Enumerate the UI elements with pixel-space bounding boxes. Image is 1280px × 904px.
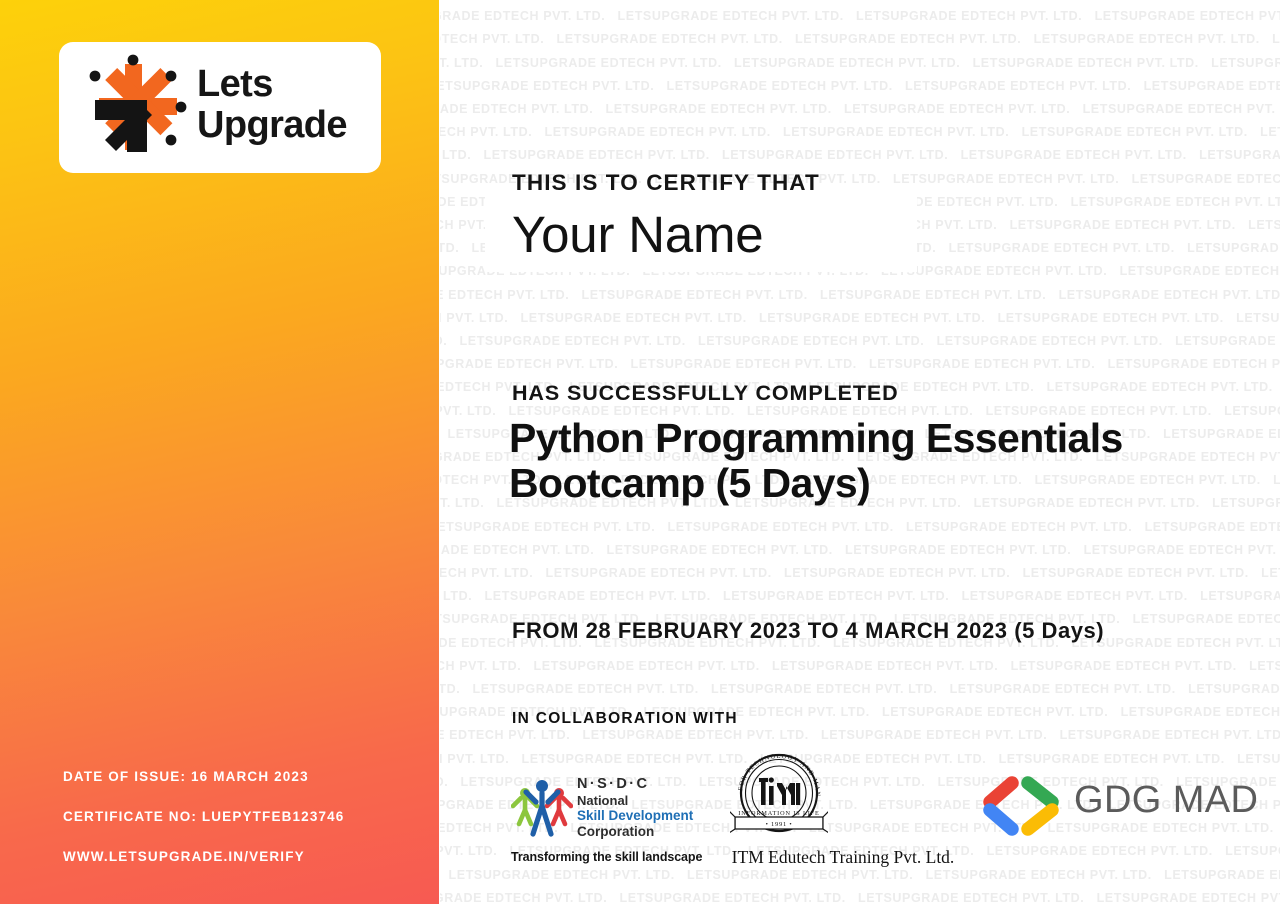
verify-url[interactable]: WWW.LETSUPGRADE.IN/VERIFY — [63, 849, 423, 864]
nsdc-wordmark: N·S·D·C National Skill Development Corpo… — [577, 776, 705, 839]
nsdc-tagline: Transforming the skill landscape — [511, 850, 703, 864]
partner-logos: N·S·D·C National Skill Development Corpo… — [439, 742, 1280, 882]
certificate-meta-block: DATE OF ISSUE: 16 MARCH 2023 CERTIFICATE… — [63, 769, 423, 864]
certificate-sidebar: Lets Upgrade DATE OF ISSUE: 16 MARCH 202… — [0, 0, 439, 904]
letsupgrade-wordmark: Lets Upgrade — [197, 64, 347, 146]
itm-logo: INSTITUTE FOR TECHNOLOGY AND MANAGEMENT — [717, 745, 967, 875]
nsdc-line-3: Corporation — [577, 824, 705, 840]
itm-seal-icon: INSTITUTE FOR TECHNOLOGY AND MANAGEMENT — [730, 745, 828, 845]
svg-text:INFORMATION IS LIFE: INFORMATION IS LIFE — [738, 810, 819, 817]
certificate-number: CERTIFICATE NO: LUEPYTFEB123746 — [63, 809, 423, 824]
svg-text:• 1991 •: • 1991 • — [766, 821, 793, 828]
gdg-chevron-icon — [976, 775, 1068, 837]
nsdc-line-2: Skill Development — [577, 808, 705, 824]
certificate-body: THIS IS TO CERTIFY THAT Your Name HAS SU… — [439, 0, 1280, 904]
logo-word-line2: Upgrade — [197, 105, 347, 146]
itm-company-name: ITM Edutech Training Pvt. Ltd. — [715, 847, 971, 868]
recipient-name: Your Name — [512, 205, 932, 264]
nsdc-logo: N·S·D·C National Skill Development Corpo… — [511, 774, 701, 878]
gdg-logo: GDG MAD — [976, 775, 1251, 837]
letsupgrade-logo-icon — [81, 54, 187, 160]
svg-text:INSTITUTE FOR TECHNOLOGY AND M: INSTITUTE FOR TECHNOLOGY AND MANAGEMENT — [730, 745, 821, 797]
nsdc-logo-top: N·S·D·C National Skill Development Corpo… — [511, 774, 701, 846]
gdg-wordmark: GDG MAD — [1074, 779, 1258, 822]
certify-label: THIS IS TO CERTIFY THAT — [512, 170, 820, 196]
nsdc-figures-icon — [511, 776, 573, 838]
course-date-range: FROM 28 FEBRUARY 2023 TO 4 MARCH 2023 (5… — [512, 618, 1212, 644]
nsdc-line-1: National — [577, 793, 705, 808]
completed-label: HAS SUCCESSFULLY COMPLETED — [512, 381, 899, 406]
nsdc-abbreviation: N·S·D·C — [577, 776, 705, 793]
letsupgrade-logo-card: Lets Upgrade — [59, 42, 381, 173]
logo-word-line1: Lets — [197, 64, 347, 105]
collaboration-label: IN COLLABORATION WITH — [512, 710, 738, 728]
certificate-canvas: LETSUPGRADE EDTECH PVT. LTD. LETSUPGRADE… — [0, 0, 1280, 904]
date-of-issue: DATE OF ISSUE: 16 MARCH 2023 — [63, 769, 423, 784]
course-title: Python Programming Essentials Bootcamp (… — [509, 416, 1280, 506]
